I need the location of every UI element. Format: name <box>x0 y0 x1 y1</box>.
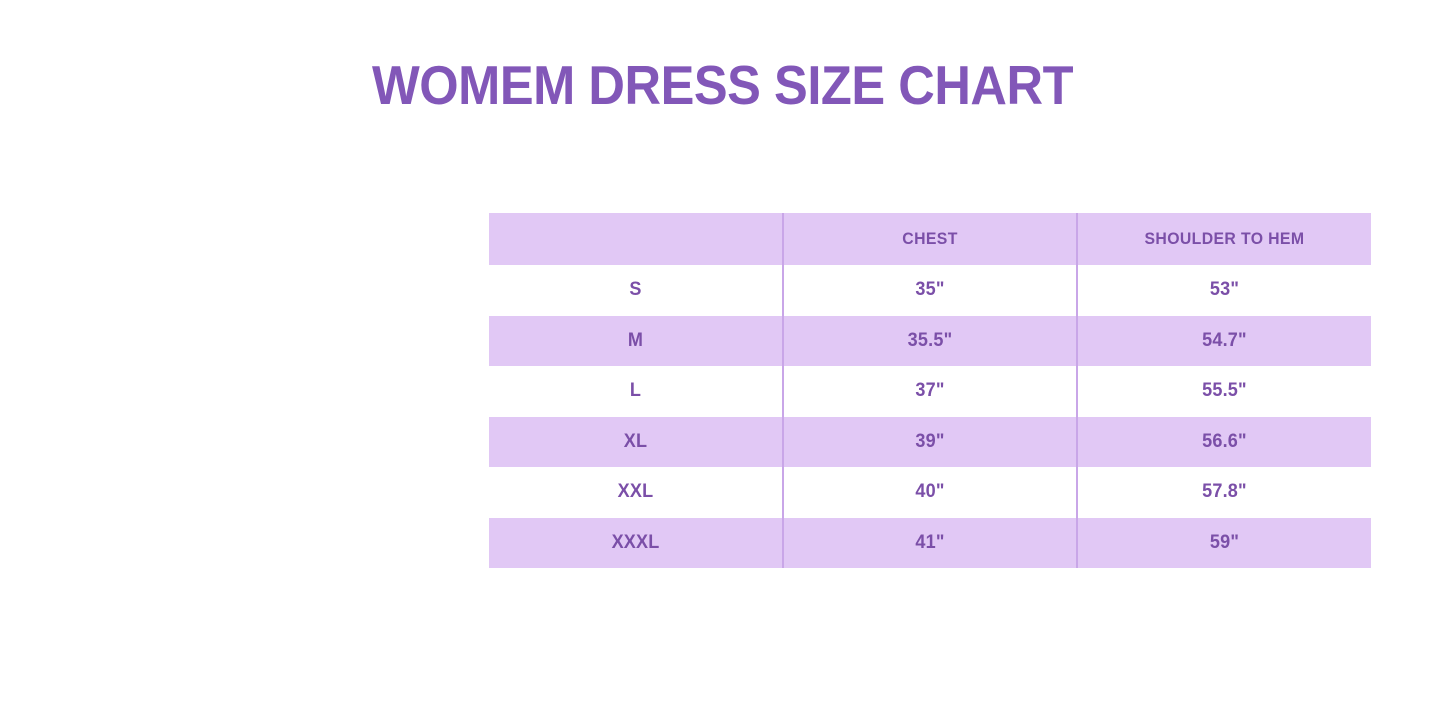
size-table-container: CHEST SHOULDER TO HEM S 35" 53" M 35.5" … <box>489 213 1371 568</box>
cell-size: XXL <box>496 467 775 518</box>
cell-size: L <box>496 366 775 417</box>
size-chart-page: WOMEM DRESS SIZE CHART CHEST SHOULDER TO… <box>0 0 1445 723</box>
table-header-row: CHEST SHOULDER TO HEM <box>489 213 1371 265</box>
column-header-chest: CHEST <box>793 213 1066 265</box>
cell-shoulder-to-hem: 56.6" <box>1084 417 1363 468</box>
table-row: S 35" 53" <box>489 265 1371 316</box>
cell-chest: 40" <box>790 467 1069 518</box>
table-row: XXXL 41" 59" <box>489 518 1371 569</box>
cell-size: S <box>496 265 775 316</box>
cell-chest: 37" <box>790 366 1069 417</box>
cell-chest: 35.5" <box>790 316 1069 367</box>
cell-shoulder-to-hem: 59" <box>1084 518 1363 569</box>
column-header-shoulder-to-hem: SHOULDER TO HEM <box>1087 213 1360 265</box>
cell-shoulder-to-hem: 54.7" <box>1084 316 1363 367</box>
cell-shoulder-to-hem: 55.5" <box>1084 366 1363 417</box>
cell-size: M <box>496 316 775 367</box>
size-chart-table: CHEST SHOULDER TO HEM S 35" 53" M 35.5" … <box>489 213 1371 568</box>
cell-shoulder-to-hem: 57.8" <box>1084 467 1363 518</box>
table-row: L 37" 55.5" <box>489 366 1371 417</box>
cell-shoulder-to-hem: 53" <box>1084 265 1363 316</box>
cell-chest: 41" <box>790 518 1069 569</box>
table-body: S 35" 53" M 35.5" 54.7" L 37" 55.5" XL 3… <box>489 265 1371 568</box>
cell-chest: 35" <box>790 265 1069 316</box>
page-title: WOMEM DRESS SIZE CHART <box>58 52 1387 118</box>
table-row: XL 39" 56.6" <box>489 417 1371 468</box>
cell-size: XL <box>496 417 775 468</box>
table-row: M 35.5" 54.7" <box>489 316 1371 367</box>
cell-size: XXXL <box>496 518 775 569</box>
column-header-size <box>499 213 772 265</box>
cell-chest: 39" <box>790 417 1069 468</box>
table-header: CHEST SHOULDER TO HEM <box>489 213 1371 265</box>
table-row: XXL 40" 57.8" <box>489 467 1371 518</box>
